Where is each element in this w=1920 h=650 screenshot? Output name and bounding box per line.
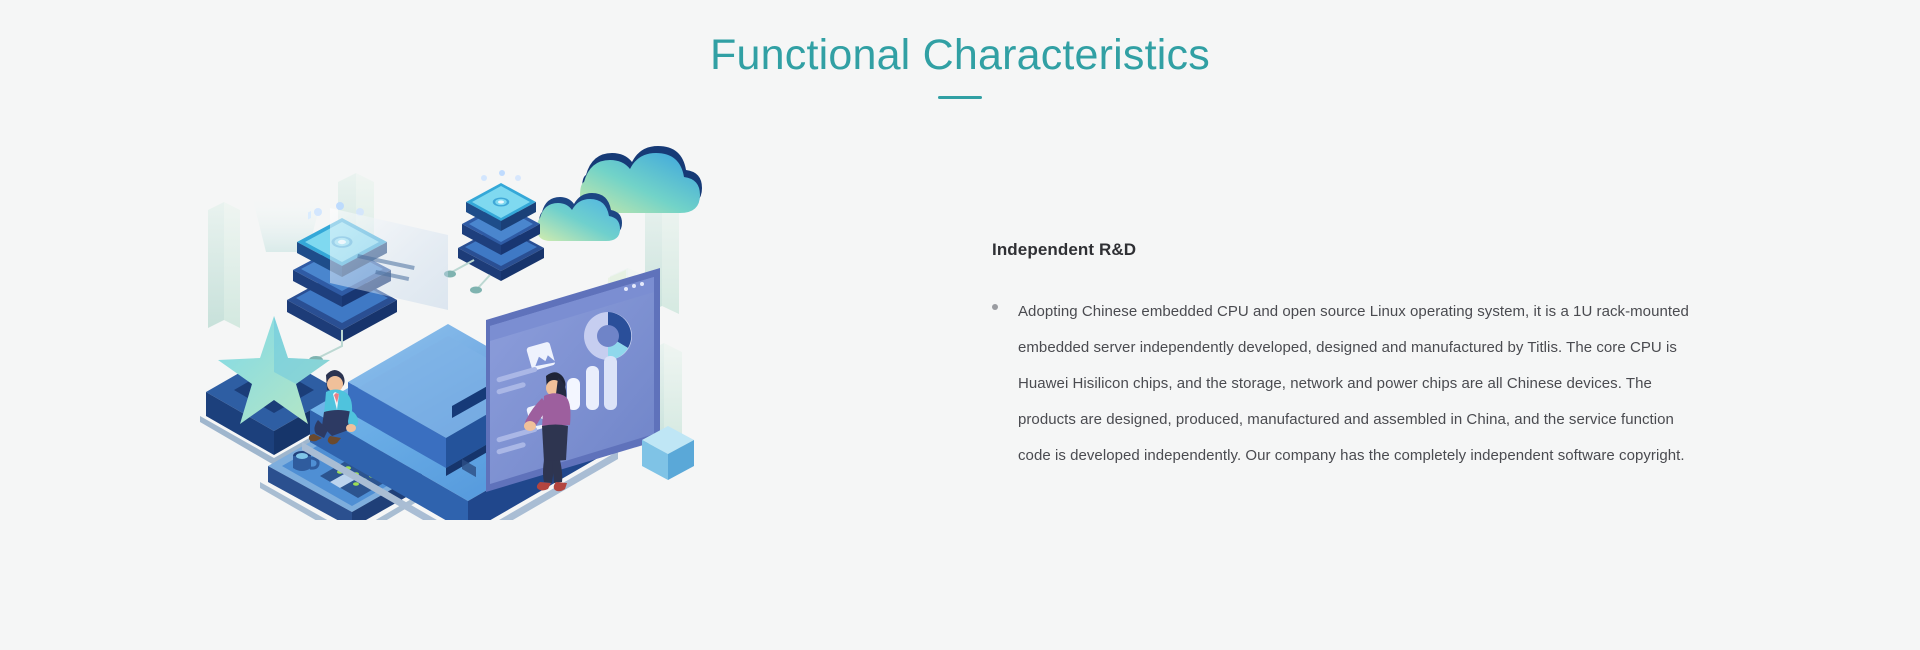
bullet-dot-icon — [992, 304, 998, 310]
list-item: Adopting Chinese embedded CPU and open s… — [992, 294, 1712, 474]
content-column: Independent R&D Adopting Chinese embedde… — [992, 240, 1712, 474]
bullet-text: Adopting Chinese embedded CPU and open s… — [1018, 294, 1690, 474]
title-underline — [938, 96, 982, 99]
illustration — [190, 120, 750, 520]
page-title: Functional Characteristics — [0, 30, 1920, 82]
page-header: Functional Characteristics — [0, 0, 1920, 120]
isometric-datacenter-illustration — [190, 120, 750, 520]
pie-chart — [584, 312, 632, 360]
dashboard-screen — [486, 268, 660, 492]
page-root: Functional Characteristics — [0, 0, 1920, 650]
content-heading: Independent R&D — [992, 240, 1712, 260]
